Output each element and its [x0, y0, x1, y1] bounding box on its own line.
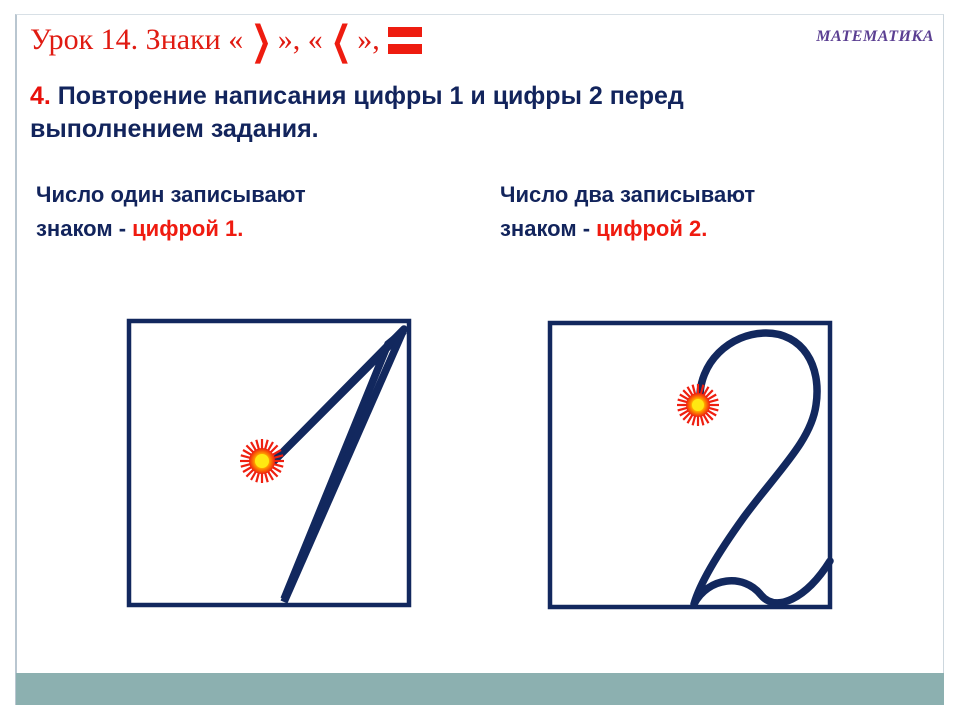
slide-canvas: Урок 14. Знаки «❯», «❮», МАТЕМАТИКА 4. П…: [0, 0, 960, 720]
less-than-icon: ❮: [331, 21, 352, 61]
greater-than-icon: ❯: [251, 21, 272, 61]
slide-header: Урок 14. Знаки «❯», «❮», МАТЕМАТИКА: [0, 0, 960, 72]
caption-one-lead: Число один записывают: [36, 182, 306, 207]
lesson-title: Урок 14. Знаки «❯», «❮»,: [30, 24, 422, 58]
lesson-title-prefix: Урок 14. Знаки «: [30, 23, 243, 56]
caption-one-accent: цифрой 1.: [132, 216, 243, 241]
lesson-title-mid: », «: [278, 23, 323, 56]
caption-two-lead: Число два записывают: [500, 182, 755, 207]
starburst-start-point: [240, 439, 284, 483]
task-statement: 4. Повторение написания цифры 1 и цифры …: [30, 80, 720, 146]
task-text: Повторение написания цифры 1 и цифры 2 п…: [30, 82, 684, 143]
caption-two-plain: знаком -: [500, 216, 596, 241]
task-number: 4.: [30, 82, 51, 110]
digit-two-stroke-box: [548, 321, 832, 609]
caption-digit-one: Число один записывают знаком - цифрой 1.: [36, 178, 456, 246]
caption-two-accent: цифрой 2.: [596, 216, 707, 241]
caption-one-plain: знаком -: [36, 216, 132, 241]
footer-band: [16, 673, 944, 705]
caption-digit-two: Число два записывают знаком - цифрой 2.: [500, 178, 920, 246]
lesson-title-tail: »,: [357, 23, 380, 56]
subject-label: МАТЕМАТИКА: [816, 28, 934, 46]
starburst-start-point: [677, 384, 719, 426]
equals-sign-icon: [388, 26, 422, 54]
digit-one-stroke-box: [127, 319, 411, 607]
